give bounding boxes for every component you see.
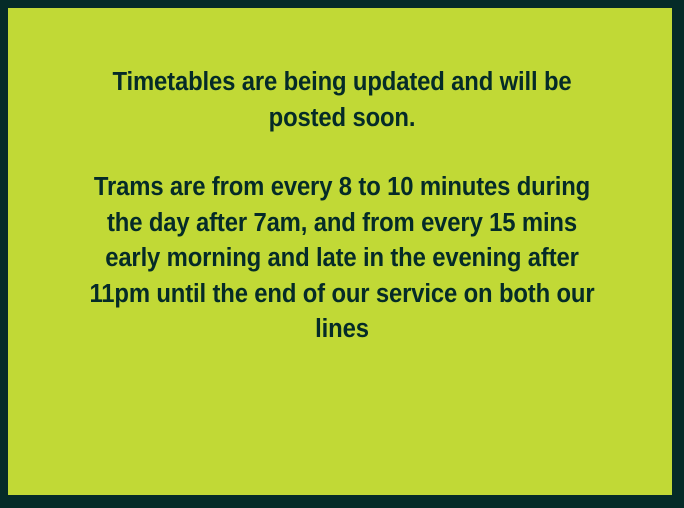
notice-paragraph-tram-frequency: Trams are from every 8 to 10 minutes dur… [75,170,610,348]
notice-body: Timetables are being updated and will be… [8,8,672,495]
notice-empty-area [56,348,628,496]
notice-frame: Timetables are being updated and will be… [0,0,684,508]
notice-panel: Timetables are being updated and will be… [8,8,672,495]
notice-paragraph-timetable-update: Timetables are being updated and will be… [75,65,610,136]
paragraph-spacer [56,136,628,170]
